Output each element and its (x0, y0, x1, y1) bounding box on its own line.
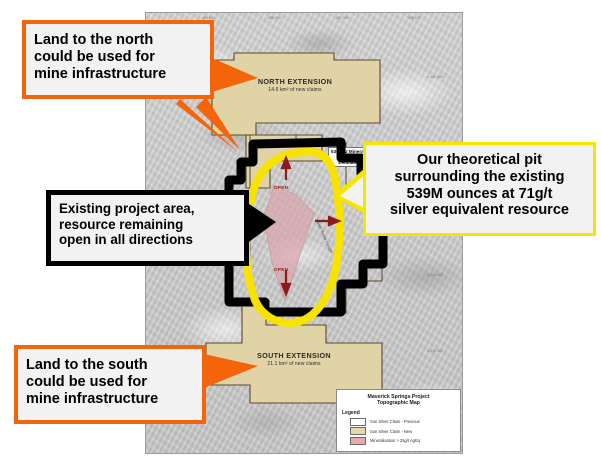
legend-item: Mineralisation > 25g/t AgEq (350, 437, 455, 445)
legend-header: Legend (342, 410, 455, 416)
callout-theoretical-pit[interactable]: Our theoretical pit surrounding the exis… (363, 142, 596, 236)
callout-existing-line1: Existing project area, (59, 201, 238, 217)
callout-land-north-line1: Land to the north (34, 32, 204, 49)
callout-land-north-line2: could be used for (34, 49, 204, 66)
south-extension-title: SOUTH EXTENSION (214, 351, 374, 360)
legend-item: Sun Silver Claim - Previous (350, 418, 455, 426)
callout-land-south-line3: mine infrastructure (26, 391, 196, 408)
north-extension-subtitle: 14.6 km² of new claims (220, 87, 370, 93)
callout-existing-line3: open in all directions (59, 232, 238, 248)
map-legend: Maverick Springs Project Topographic Map… (336, 389, 461, 453)
callout-land-north[interactable]: Land to the north could be used for mine… (22, 20, 214, 99)
north-extension-label: NORTH EXTENSION 14.6 km² of new claims (220, 77, 370, 93)
legend-swatch-previous (350, 418, 366, 426)
open-label-south: OPEN (274, 267, 288, 272)
callout-land-south-text: Land to the south could be used for mine… (18, 349, 202, 407)
callout-pit-line3: 539M ounces at 71g/t (370, 186, 589, 203)
callout-pit-line2: surrounding the existing (370, 169, 589, 186)
legend-title-line2: Topographic Map (342, 400, 455, 407)
south-extension-label: SOUTH EXTENSION 21.1 km² of new claims (214, 351, 374, 367)
legend-label-previous: Sun Silver Claim - Previous (370, 419, 420, 424)
north-extension-polygon (212, 53, 380, 135)
legend-item: Sun Silver Claim - New (350, 427, 455, 435)
legend-swatch-new (350, 427, 366, 435)
callout-land-north-line3: mine infrastructure (34, 66, 204, 83)
callout-land-south[interactable]: Land to the south could be used for mine… (14, 345, 206, 424)
north-extension-title: NORTH EXTENSION (220, 77, 370, 86)
legend-swatch-mineralisation (350, 437, 366, 445)
south-extension-subtitle: 21.1 km² of new claims (214, 361, 374, 367)
mineralisation-body (264, 185, 314, 301)
legend-label-mineralisation: Mineralisation > 25g/t AgEq (370, 438, 420, 443)
open-label-north: OPEN (274, 185, 288, 190)
callout-pit-line1: Our theoretical pit (370, 152, 589, 169)
slide-canvas: 485 000 486 000 487 000 488 000 4 442 00… (0, 0, 601, 457)
callout-pit-line4: silver equivalent resource (370, 202, 589, 219)
callout-existing-project[interactable]: Existing project area, resource remainin… (46, 190, 249, 266)
callout-land-south-line1: Land to the south (26, 357, 196, 374)
callout-existing-line2: resource remaining (59, 217, 238, 233)
mre-callout-box: 539Moz Mineral Resource Estimate (328, 147, 368, 167)
callout-existing-project-text: Existing project area, resource remainin… (51, 195, 244, 248)
callout-theoretical-pit-text: Our theoretical pit surrounding the exis… (366, 145, 593, 219)
callout-land-south-line2: could be used for (26, 374, 196, 391)
callout-land-north-text: Land to the north could be used for mine… (26, 24, 210, 82)
legend-label-new: Sun Silver Claim - New (370, 429, 412, 434)
